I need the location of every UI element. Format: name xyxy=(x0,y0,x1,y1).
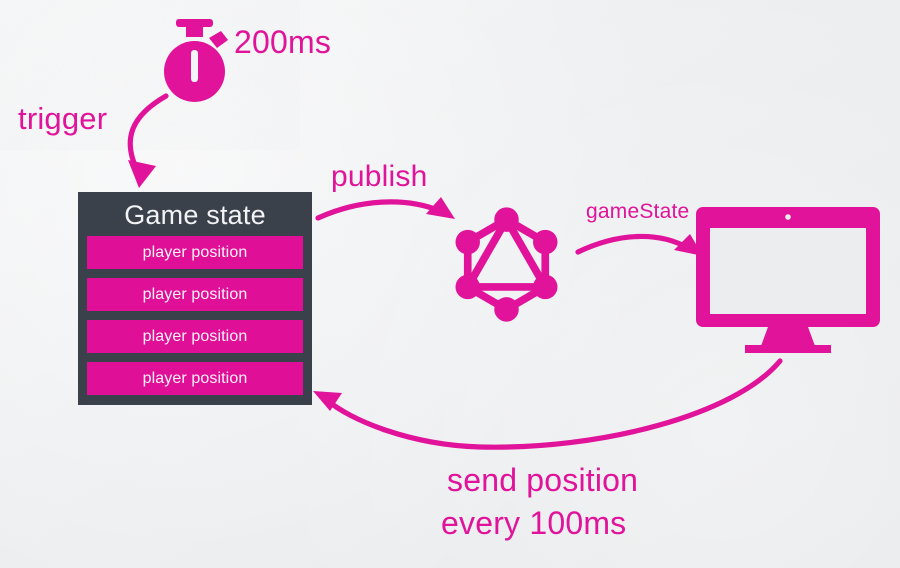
gamestate-arrow xyxy=(578,234,703,256)
publish-arrow xyxy=(318,197,455,219)
stopwatch-icon xyxy=(164,19,228,102)
trigger-label: trigger xyxy=(18,101,107,137)
desktop-monitor-icon xyxy=(696,207,880,353)
timer-label: 200ms xyxy=(234,24,331,61)
list-item: player position xyxy=(87,362,303,395)
list-item: player position xyxy=(87,320,303,353)
send-position-label-line1: send position xyxy=(447,462,638,499)
publish-label: publish xyxy=(331,160,427,194)
send-position-label-line2: every 100ms xyxy=(441,505,626,542)
diagram-canvas: Game state player position player positi… xyxy=(0,0,900,568)
list-item: player position xyxy=(87,236,303,269)
monitor-camera-dot xyxy=(785,214,791,220)
gamestate-label: gameState xyxy=(586,200,689,224)
player-position-label: player position xyxy=(143,286,248,304)
player-position-label: player position xyxy=(143,244,248,262)
player-position-label: player position xyxy=(143,370,248,388)
game-state-panel: Game state player position player positi… xyxy=(78,192,312,405)
player-position-list: player position player position player p… xyxy=(87,236,303,395)
list-item: player position xyxy=(87,278,303,311)
graphql-logo-icon xyxy=(456,207,558,321)
panel-title: Game state xyxy=(87,198,303,232)
player-position-label: player position xyxy=(143,328,248,346)
send-position-arrow xyxy=(313,361,780,447)
trigger-arrow xyxy=(128,96,166,188)
